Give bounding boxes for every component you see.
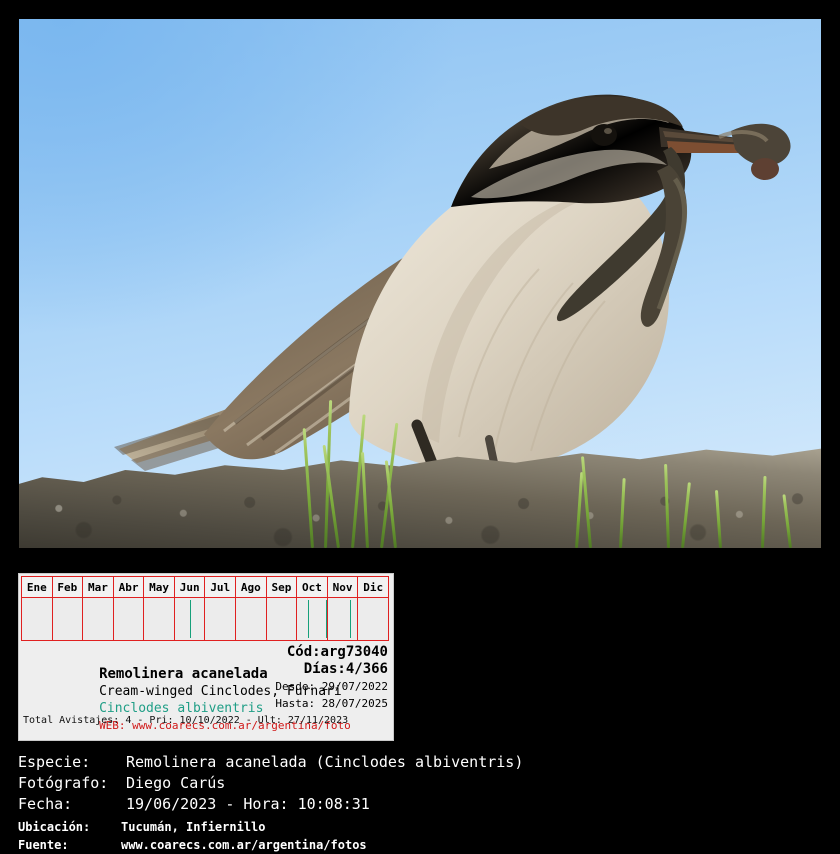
caption-value-especie: Remolinera acanelada (Cinclodes albivent… [126, 752, 523, 773]
species-code: Cód:arg73040 [287, 644, 388, 661]
species-info-panel: Ene Feb Mar Abr May Jun Jul Ago Sep Oct … [18, 573, 394, 741]
sighting-tick [350, 600, 351, 638]
caption-value-fotografo: Diego Carús [126, 773, 225, 794]
month-calendar: Ene Feb Mar Abr May Jun Jul Ago Sep Oct … [21, 576, 389, 641]
caption-label-ubicacion: Ubicación: [18, 818, 121, 836]
desde-date: Desde: 29/07/2022 [275, 678, 388, 695]
calendar-cell-jul [205, 598, 236, 641]
common-name-row: Remolinera acanelada Cód:arg73040 [22, 644, 390, 661]
english-name-row: Cream-winged Cinclodes, Furnari Días:4/3… [22, 661, 390, 678]
caption-row-especie: Especie: Remolinera acanelada (Cinclodes… [18, 752, 828, 773]
calendar-cell-ago [236, 598, 267, 641]
sighting-tick [308, 600, 309, 638]
month-header-sep: Sep [266, 577, 297, 598]
sighting-tick [190, 600, 191, 638]
month-header-may: May [144, 577, 175, 598]
calendar-cell-jun [174, 598, 205, 641]
total-sightings-line: Total Avistajes: 4 - Pri: 10/10/2022 - U… [23, 714, 348, 728]
caption-row-fuente: Fuente: www.coarecs.com.ar/argentina/fot… [18, 836, 828, 854]
calendar-cell-abr [113, 598, 144, 641]
calendar-cell-mar [83, 598, 114, 641]
photo-caption: Especie: Remolinera acanelada (Cinclodes… [18, 752, 828, 854]
caption-row-fotografo: Fotógrafo: Diego Carús [18, 773, 828, 794]
month-header-dic: Dic [358, 577, 389, 598]
month-header-oct: Oct [297, 577, 328, 598]
month-header-feb: Feb [52, 577, 83, 598]
month-header-mar: Mar [83, 577, 114, 598]
screenshot-root: Ene Feb Mar Abr May Jun Jul Ago Sep Oct … [0, 0, 840, 854]
caption-value-fecha: 19/06/2023 - Hora: 10:08:31 [126, 794, 370, 815]
month-header-jul: Jul [205, 577, 236, 598]
month-header-nov: Nov [327, 577, 358, 598]
calendar-cell-sep [266, 598, 297, 641]
month-header-jun: Jun [174, 577, 205, 598]
hasta-date: Hasta: 28/07/2025 [275, 695, 388, 712]
caption-label-fecha: Fecha: [18, 794, 126, 815]
month-header-abr: Abr [113, 577, 144, 598]
species-text-block: Remolinera acanelada Cód:arg73040 Cream-… [22, 644, 390, 713]
caption-label-fuente: Fuente: [18, 836, 121, 854]
scientific-name-row: Cinclodes albiventris Desde: 29/07/2022 [22, 678, 390, 695]
calendar-header-row: Ene Feb Mar Abr May Jun Jul Ago Sep Oct … [22, 577, 389, 598]
caption-value-ubicacion: Tucumán, Infiernillo [121, 818, 266, 836]
caption-label-fotografo: Fotógrafo: [18, 773, 126, 794]
days-count: Días:4/366 [304, 661, 388, 678]
web-row: WEB: www.coarecs.com.ar/argentina/foto H… [22, 695, 390, 713]
bird-photo [19, 19, 821, 548]
calendar-cell-nov [327, 598, 358, 641]
calendar-cell-ene [22, 598, 53, 641]
caption-row-ubicacion: Ubicación: Tucumán, Infiernillo [18, 818, 828, 836]
month-header-ago: Ago [236, 577, 267, 598]
calendar-cell-oct [297, 598, 328, 641]
caption-value-fuente[interactable]: www.coarecs.com.ar/argentina/fotos [121, 836, 367, 854]
caption-label-especie: Especie: [18, 752, 126, 773]
month-header-ene: Ene [22, 577, 53, 598]
calendar-marks-row [22, 598, 389, 641]
calendar-cell-may [144, 598, 175, 641]
calendar-cell-dic [358, 598, 389, 641]
caption-row-fecha: Fecha: 19/06/2023 - Hora: 10:08:31 [18, 794, 828, 815]
calendar-cell-feb [52, 598, 83, 641]
